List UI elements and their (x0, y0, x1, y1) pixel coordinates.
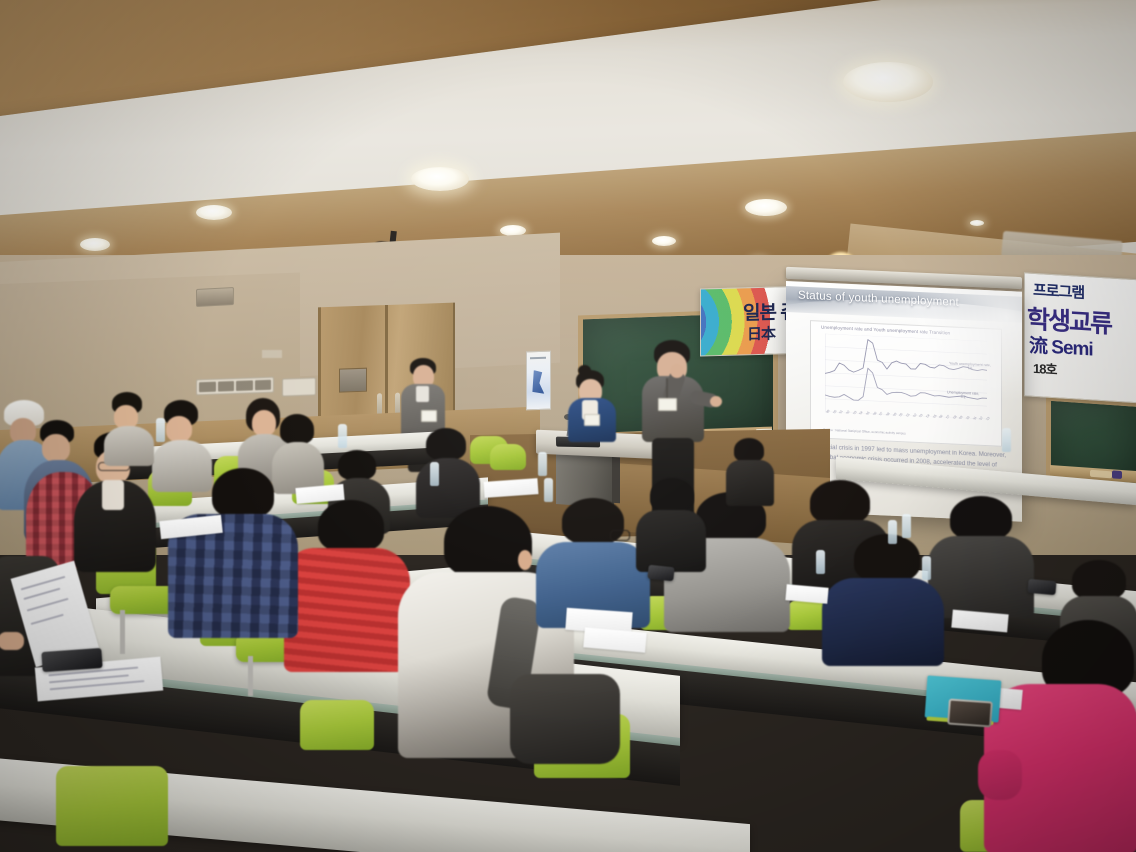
water-bottle[interactable] (816, 550, 825, 574)
ceiling-light (80, 238, 110, 251)
audience-torso (726, 460, 774, 506)
screen-glare (902, 281, 1022, 403)
ceiling-light (196, 205, 232, 220)
audience-torso-navy (822, 578, 944, 666)
audience-head (166, 416, 192, 442)
audience-member-navy (822, 534, 942, 662)
audience-hand (0, 632, 24, 650)
audience-ear (518, 550, 532, 570)
smartphone[interactable] (647, 565, 674, 582)
chair-back[interactable] (56, 766, 168, 846)
audience-hair (1072, 560, 1126, 600)
audience-hair (810, 480, 870, 524)
audience-scarf (102, 480, 124, 510)
water-bottle[interactable] (538, 452, 547, 476)
staff-name-badge (421, 410, 437, 422)
chair-leg (120, 610, 125, 654)
water-bottle[interactable] (338, 424, 347, 448)
audience-hair (280, 414, 314, 444)
audience-member (930, 496, 1034, 616)
ceiling-light (843, 62, 933, 102)
ceiling-light (411, 167, 469, 191)
poster-figure-icon (531, 370, 545, 394)
ceiling-light (970, 220, 984, 226)
audience-hair (650, 478, 694, 512)
audience-member-pink (984, 620, 1136, 852)
banner-right-line3: 流 Semi (1029, 331, 1093, 362)
eyeglasses-icon (610, 530, 630, 541)
ceiling-light (652, 236, 676, 246)
poster-header-line (530, 357, 546, 360)
presenter-lanyard (666, 378, 668, 400)
audience-jacket-on-chair (510, 674, 620, 764)
water-bottle[interactable] (1002, 428, 1011, 452)
audience-hair (854, 534, 920, 582)
door-sign (262, 350, 282, 358)
audience-member-plaid-seated (168, 468, 298, 638)
banner-right: 프로그램 학생교류 流 Semi 18호 (1024, 272, 1136, 403)
smartphone[interactable] (41, 648, 102, 672)
audience-hair (734, 438, 764, 462)
chair-back[interactable] (300, 700, 374, 750)
water-bottle[interactable] (902, 514, 911, 538)
water-bottle[interactable] (888, 520, 897, 544)
audience-torso (928, 536, 1034, 618)
tablet-screen (949, 701, 990, 726)
banner-right-line4: 18호 (1033, 358, 1056, 378)
audience-member (418, 428, 478, 518)
audience-member (636, 478, 706, 570)
audience-hair (318, 500, 384, 552)
ceiling-beam-dark (0, 0, 1136, 119)
audience-member (104, 392, 154, 464)
audience-hair (444, 506, 532, 578)
wall-poster (526, 351, 551, 411)
presenter-hand-out (710, 396, 722, 407)
audience-torso (104, 426, 154, 466)
audience-member-red (284, 500, 410, 670)
chair-back[interactable] (490, 444, 526, 470)
light-switch-panel[interactable] (196, 377, 274, 396)
tablet-device[interactable] (947, 698, 993, 727)
ceiling-light (745, 199, 787, 216)
lectern-leg (612, 455, 620, 504)
audience-hair (338, 450, 376, 480)
audience-torso (636, 510, 706, 572)
audience-arm-pink (978, 750, 1022, 800)
door-window (339, 368, 367, 393)
smartphone[interactable] (1027, 579, 1056, 595)
water-bottle[interactable] (922, 556, 931, 580)
presenter-name-badge (658, 398, 677, 411)
panelist-name-badge (584, 414, 600, 426)
water-bottle[interactable] (430, 462, 439, 486)
audience-hair (212, 468, 274, 518)
chair-leg (248, 656, 253, 696)
audience-hair (950, 496, 1012, 540)
panelist-hair-bun (578, 365, 591, 376)
water-bottle[interactable] (544, 478, 553, 502)
banner-left-japanese-text: 日本 (747, 323, 775, 345)
staff-shirt (416, 386, 429, 402)
presenter-hand (670, 364, 684, 378)
light-switch-panel-secondary[interactable] (282, 377, 316, 396)
audience-torso-striped-red (284, 548, 410, 672)
wall-speaker-icon (196, 287, 234, 307)
water-bottle[interactable] (156, 418, 165, 442)
seminar-room-photo: 일본 쥬오 日本 프로그램 학생교류 流 Semi 18호 Status of … (0, 0, 1136, 852)
presenter-seated (566, 370, 620, 442)
audience-hair (426, 428, 466, 460)
audience-member (726, 438, 772, 504)
